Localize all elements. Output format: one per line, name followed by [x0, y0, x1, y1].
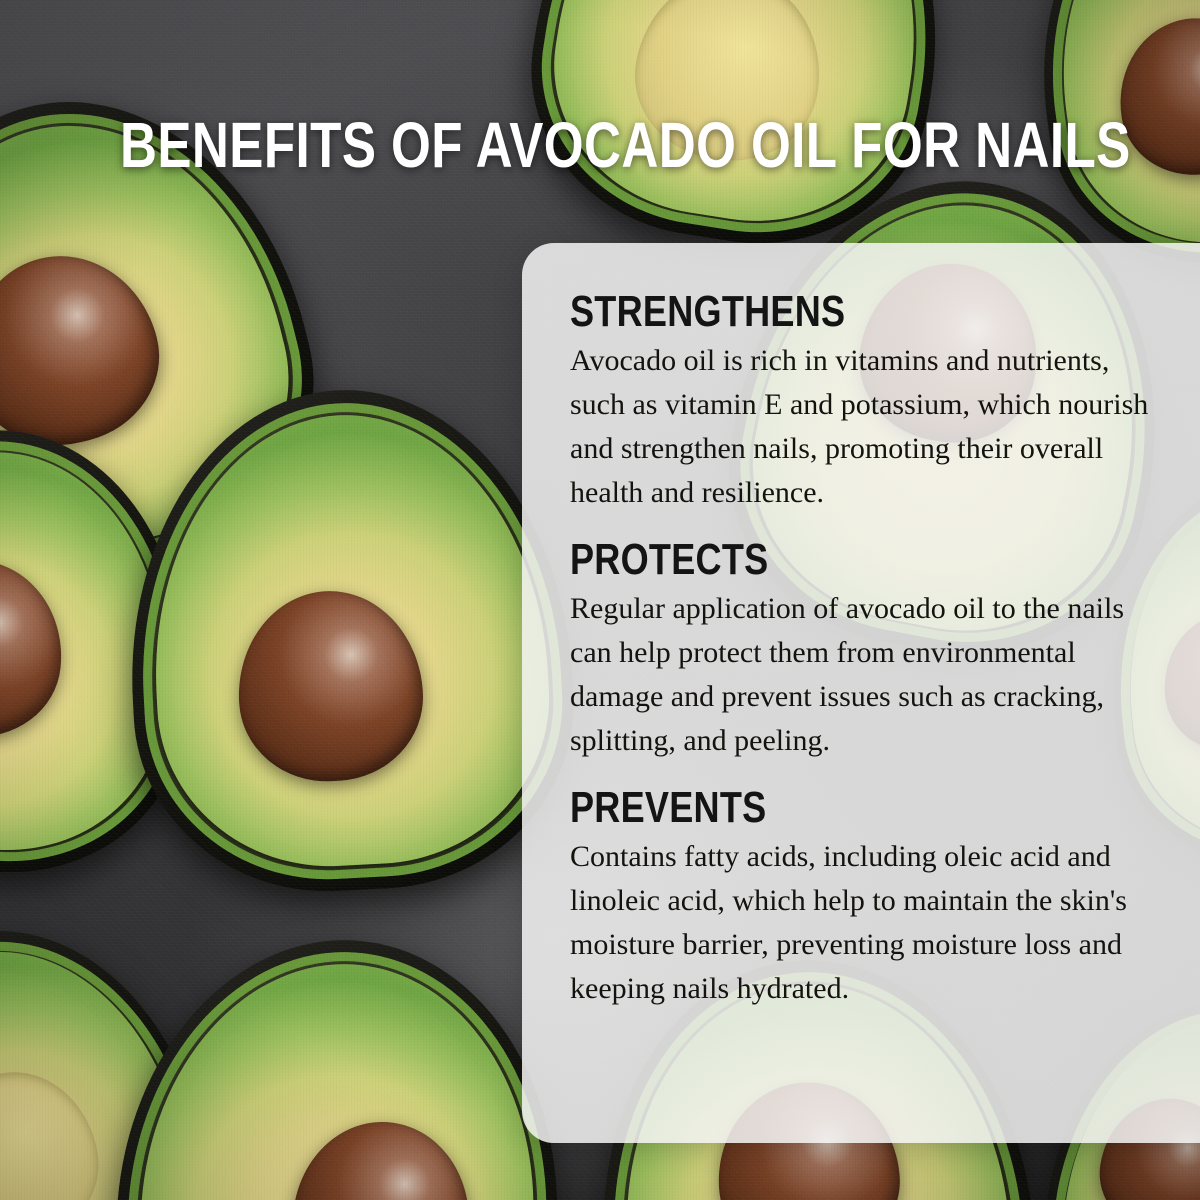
- benefit-heading: PROTECTS: [570, 537, 1059, 583]
- benefit-body: Regular application of avocado oil to th…: [570, 587, 1166, 763]
- page-title: BENEFITS OF AVOCADO OIL FOR NAILS: [120, 112, 1080, 178]
- benefit-section-prevents: PREVENTS Contains fatty acids, including…: [570, 785, 1166, 1011]
- benefit-section-strengthens: STRENGTHENS Avocado oil is rich in vitam…: [570, 289, 1166, 515]
- infographic-canvas: BENEFITS OF AVOCADO OIL FOR NAILS STRENG…: [0, 0, 1200, 1200]
- benefit-heading: STRENGTHENS: [570, 289, 1059, 335]
- benefit-heading: PREVENTS: [570, 785, 1059, 831]
- benefits-panel-content: STRENGTHENS Avocado oil is rich in vitam…: [522, 243, 1200, 1143]
- benefit-body: Avocado oil is rich in vitamins and nutr…: [570, 339, 1166, 515]
- benefits-panel: STRENGTHENS Avocado oil is rich in vitam…: [522, 243, 1200, 1143]
- benefit-body: Contains fatty acids, including oleic ac…: [570, 835, 1166, 1011]
- benefit-section-protects: PROTECTS Regular application of avocado …: [570, 537, 1166, 763]
